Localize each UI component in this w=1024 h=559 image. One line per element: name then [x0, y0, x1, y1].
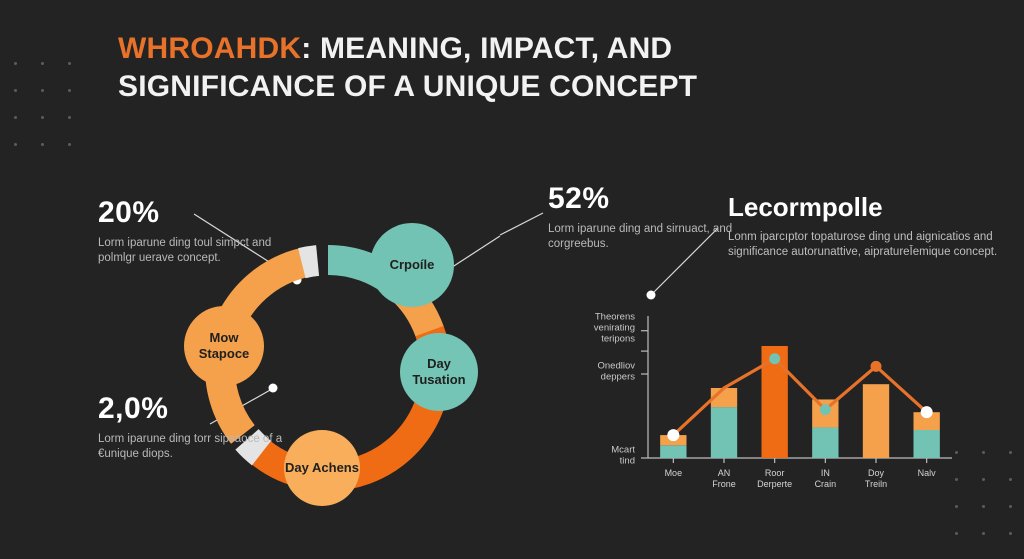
x-tick-label: Treiln [865, 479, 887, 489]
decor-dot [41, 143, 44, 146]
decor-dot [982, 478, 985, 481]
decor-dot [14, 89, 17, 92]
bar-chart: TheorensveniratingteriponsOnedliovdepper… [540, 300, 960, 510]
donut-bubble-label: Crpoíle [390, 257, 435, 273]
callout-value: 52% [548, 182, 738, 216]
decor-dot [14, 62, 17, 65]
bar-chart-svg: TheorensveniratingteriponsOnedliovdepper… [540, 300, 960, 510]
trend-marker [769, 353, 780, 364]
trend-marker [871, 361, 882, 372]
x-tick-label: Roor [765, 468, 785, 478]
x-tick-label: AN [718, 468, 731, 478]
donut-bubble-crpoile[interactable]: Crpoíle [370, 223, 454, 307]
trend-marker [820, 404, 831, 415]
decor-dot-grid-left [14, 62, 71, 146]
decor-dot [1009, 478, 1012, 481]
decor-dot [1009, 532, 1012, 535]
x-tick-label: IN [821, 468, 830, 478]
decor-dot-grid-right [955, 451, 1012, 535]
trend-marker [921, 406, 933, 418]
x-tick-label: Frone [712, 479, 736, 489]
decor-dot [1009, 505, 1012, 508]
bar-segment-teal [812, 427, 838, 458]
right-panel-heading: Lecormpolle [728, 192, 1000, 222]
y-tick-label: tind [620, 456, 635, 467]
decor-dot [41, 89, 44, 92]
decor-dot [1009, 451, 1012, 454]
y-tick-label: Mcart [611, 445, 635, 456]
callout-value: 2,0% [98, 392, 288, 426]
y-tick-label: venirating [594, 323, 635, 334]
decor-dot [982, 451, 985, 454]
donut-bubble-label: Day Tusation [400, 356, 478, 388]
decor-dot [41, 116, 44, 119]
y-tick-label: teripons [601, 334, 635, 345]
decor-dot [14, 143, 17, 146]
donut-bubble-day-achens[interactable]: Day Achens [284, 430, 360, 506]
callout-2-0-percent: 2,0% Lorm iparune ding torr sipsaoce of … [98, 392, 288, 462]
callout-20-percent: 20% Lorm iparune ding toul simpct and po… [98, 196, 288, 266]
bar-segment-orange [863, 384, 889, 458]
trend-marker [667, 429, 679, 441]
y-tick-label: Theorens [595, 312, 635, 323]
decor-dot [14, 116, 17, 119]
decor-dot [955, 532, 958, 535]
right-panel: Lecormpolle Lonm iparcıptor topaturose d… [728, 192, 1000, 260]
title-rest: : Meaning, Impact, and [301, 32, 672, 65]
donut-bubble-label: Mow Stapoce [184, 330, 264, 362]
title-keyword: Whroahdk [118, 32, 301, 65]
title-line-2: Significance of a Unique Concept [118, 70, 697, 103]
y-tick-label: Onedliov [598, 361, 636, 372]
callout-52-percent: 52% Lorm iparune ding and sirnuact, and … [548, 182, 738, 252]
y-tick-label: deppers [601, 372, 636, 383]
title-heading: Whroahdk: Meaning, Impact, and Significa… [118, 30, 818, 106]
decor-dot [68, 143, 71, 146]
x-tick-label: Nalv [918, 468, 937, 478]
x-tick-label: Derperte [757, 479, 792, 489]
bar-segment-teal [913, 430, 939, 458]
callout-description: Lorm iparune ding torr sipsaoce of a €un… [98, 432, 288, 462]
donut-bubble-day-tusation[interactable]: Day Tusation [400, 333, 478, 411]
donut-bubble-label: Day Achens [285, 460, 359, 476]
decor-dot [982, 505, 985, 508]
right-panel-body: Lonm iparcıptor topaturose ding und aign… [728, 230, 1000, 260]
page-title: Whroahdk: Meaning, Impact, and Significa… [118, 30, 818, 106]
x-tick-label: Crain [815, 479, 837, 489]
callout-description: Lorm iparune ding toul simpct and polmlg… [98, 236, 288, 266]
decor-dot [982, 532, 985, 535]
donut-bubble-mow-stapoce[interactable]: Mow Stapoce [184, 306, 264, 386]
callout-value: 20% [98, 196, 288, 230]
bar-segment-teal [660, 445, 686, 458]
bar-segment-teal [711, 407, 737, 458]
decor-dot [68, 62, 71, 65]
decor-dot [68, 89, 71, 92]
decor-dot [41, 62, 44, 65]
x-tick-label: Doy [868, 468, 885, 478]
callout-description: Lorm iparune ding and sirnuact, and corg… [548, 222, 738, 252]
decor-dot [68, 116, 71, 119]
x-tick-label: Moe [665, 468, 683, 478]
